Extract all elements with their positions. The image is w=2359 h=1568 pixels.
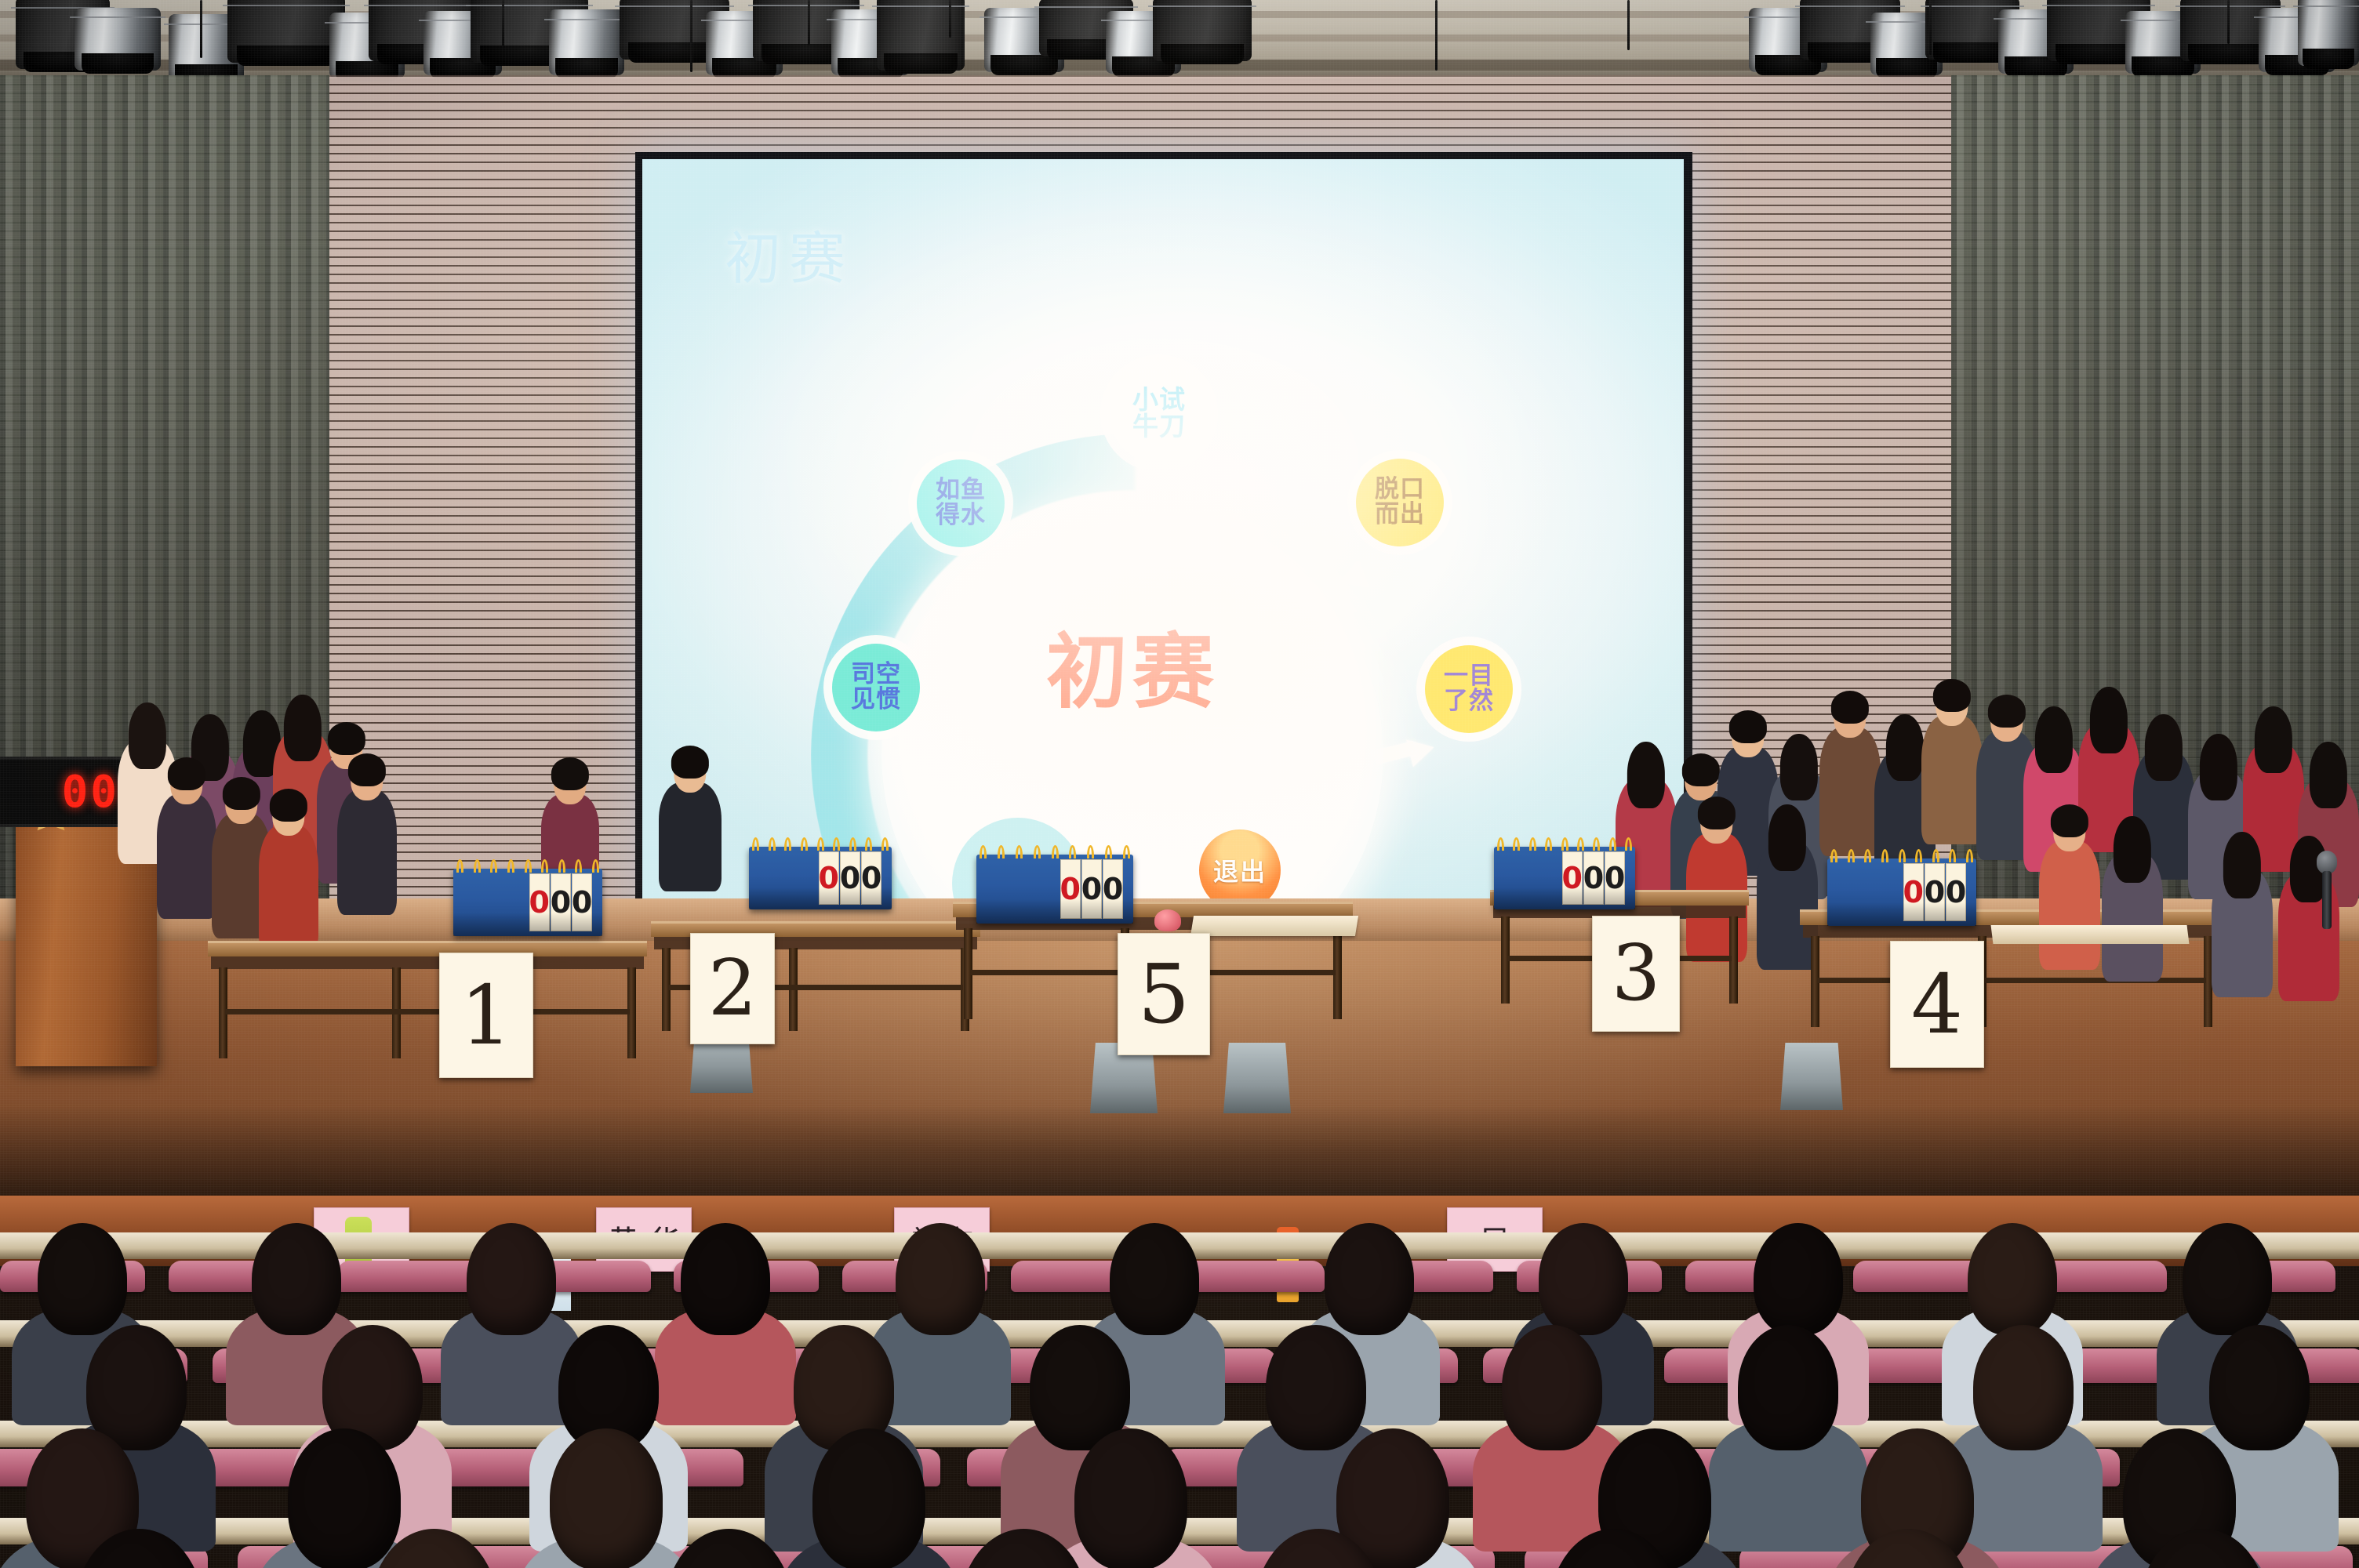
diagram-node-ruyu-deshui[interactable]: 如鱼 得水 [917,459,1005,547]
light-cable [949,0,951,38]
node-line-1: 小试 [1132,387,1186,413]
audience-head [370,1529,498,1568]
person [337,749,397,913]
person-torso [659,782,722,891]
stage-light [549,9,624,75]
audience-member [794,1428,943,1568]
light-cable [502,0,504,49]
node-line-1: 脱口 [1375,477,1425,503]
stage-light [75,8,161,71]
stage-light [877,0,965,71]
node-line-2: 得水 [936,503,986,528]
countdown-timer-display: 00 [0,757,129,827]
score-digit: 0 [1103,859,1123,919]
score-digit: 0 [1903,863,1924,921]
scoreboard-digits: 000 [1903,863,1972,921]
person [659,741,722,890]
audience-member [2119,1529,2288,1568]
person-hair [1682,753,1720,786]
audience-head [1539,1223,1628,1335]
person-torso [2039,841,2100,970]
person [1921,674,1983,843]
person-hair [1933,679,1971,711]
person-hair [2223,832,2261,898]
table-number-card: 1 [439,953,533,1078]
desk-papers [1991,925,2190,944]
scoreboard-rings [1497,837,1632,850]
person-hair [1768,804,1806,871]
person-hair [284,695,322,761]
scoreboard-rings [1830,849,1973,862]
scoreboard-digits: 000 [1562,851,1630,905]
person [1819,686,1881,855]
score-digit: 0 [1583,851,1604,905]
stage-light [1153,0,1252,61]
team-scoreboard[interactable]: 000 [1494,847,1635,909]
light-cable [1435,0,1438,71]
audience-member [1722,1325,1854,1527]
score-digit: 0 [1060,859,1081,919]
audience-head [467,1223,556,1335]
diagram-node-tuokou-erchu[interactable]: 脱口 而出 [1356,459,1444,546]
person-hair [348,753,386,786]
audience-head [1325,1223,1414,1335]
table-number-card: 3 [1592,916,1680,1032]
team-scoreboard[interactable]: 000 [976,855,1133,924]
person [157,753,216,917]
light-cable [200,0,202,58]
node-line-1: 一目 [1444,664,1494,689]
scoreboard-rings [456,859,599,872]
table-number-card: 5 [1118,933,1210,1055]
contestant-desk [208,941,647,1058]
person-torso [337,790,397,915]
audience-head [2183,1223,2272,1335]
projection-screen: 初赛 初赛 小试 [635,152,1692,922]
auditorium-scene: 初赛 初赛 小试 [0,0,2359,1568]
person-hair [2310,742,2347,808]
scoreboard-digits: 000 [1060,859,1129,919]
light-cable [690,0,692,72]
person [259,784,318,949]
person-hair [1886,714,1924,781]
desk-papers [1190,916,1358,936]
audience-head [1255,1529,1383,1568]
score-digit: 0 [529,873,550,931]
diagram-center-label: 初赛 [944,631,1321,713]
person-hair [2051,804,2088,837]
arc-arrow-up [1150,487,1191,515]
light-cable [1929,0,1932,55]
audience-member [645,1529,813,1568]
audience-head [75,1529,203,1568]
stool [1780,1043,1843,1110]
person-hair [1780,734,1818,800]
diagram-node-sikong-jianguan[interactable]: 司空 见惯 [832,644,920,731]
node-line-2: 牛刀 [1132,413,1186,440]
scoreboard-digits: 000 [529,873,598,931]
person-hair [551,757,589,789]
score-digit: 0 [1946,863,1966,921]
score-digit: 0 [1562,851,1583,905]
scoreboard-digits: 000 [819,851,887,905]
score-digit: 0 [819,851,839,905]
person-torso [157,794,216,919]
person-hair [168,757,205,789]
table-number-card: 2 [690,933,775,1044]
score-digit: 0 [840,851,860,905]
host-with-microphone [2314,851,2340,945]
audience-member [667,1223,784,1411]
person-hair [1729,710,1767,742]
audience-member [1824,1529,1993,1568]
person-torso [1819,728,1881,856]
audience-member [1234,1529,1403,1568]
stage-light [227,0,345,63]
person-hair [1627,742,1665,808]
audience-head [1845,1529,1972,1568]
audience-head [1110,1223,1199,1335]
diagram-node-xiaoshi-niudao[interactable]: 小试 牛刀 [1109,363,1209,463]
desk-buzzer-icon[interactable] [1154,909,1181,931]
person-hair [2114,816,2151,883]
audience-head [2139,1529,2267,1568]
node-line-2: 了然 [1444,689,1494,714]
person-hair [1698,797,1736,829]
person-torso [1921,716,1983,844]
audience-head [812,1428,925,1568]
person [2212,827,2273,996]
score-digit: 0 [551,873,571,931]
node-line-1: 如鱼 [936,478,986,503]
audience-member [940,1529,1108,1568]
audience-head [960,1529,1088,1568]
node-line-1: 司空 [851,662,901,688]
person-hair [1831,691,1869,723]
team-scoreboard[interactable]: 000 [1827,858,1976,926]
team-scoreboard[interactable]: 000 [453,869,602,936]
light-cable [2227,0,2230,44]
audience-head [252,1223,341,1335]
person-hair [2145,714,2183,781]
person-hair [1988,695,2026,727]
person-hair [2035,706,2073,773]
audience-head [1968,1223,2057,1335]
audience-head [38,1223,127,1335]
person-hair [2255,706,2292,773]
person [2102,811,2163,980]
timer-value: 00 [62,767,119,818]
audience-head [1550,1529,1677,1568]
person-hair [2090,687,2128,753]
person-torso [259,826,318,950]
node-line-2: 而出 [1375,503,1425,528]
audience-head [896,1223,985,1335]
person-hair [223,777,260,809]
audience-member [1529,1529,1698,1568]
score-digit: 0 [1925,863,1945,921]
arc-arrow-up-stem [1161,512,1179,550]
score-digit: 0 [1081,859,1102,919]
audience-head [1754,1223,1843,1335]
stage-light [2298,0,2359,66]
node-line-2: 见惯 [851,688,901,713]
audience-head [681,1223,770,1335]
score-digit: 0 [572,873,592,931]
audience-head [665,1529,793,1568]
scoreboard-rings [752,837,889,850]
audience-head [1738,1325,1838,1450]
table-number-card: 4 [1890,941,1984,1068]
person-hair [671,746,709,778]
score-digit: 0 [1605,851,1625,905]
stool [1223,1043,1291,1113]
score-digit: 0 [861,851,881,905]
slide-diagram: 初赛 小试 牛刀 [682,277,1662,904]
audience-member [55,1529,224,1568]
team-scoreboard[interactable]: 000 [749,847,892,909]
light-cable [1627,0,1630,50]
person-hair [2200,734,2237,800]
audience-member [350,1529,518,1568]
scoreboard-rings [980,845,1130,858]
diagram-node-yimu-liaoran[interactable]: 一目 了然 [1425,645,1513,733]
person-hair [270,789,307,821]
light-cable [808,0,810,45]
